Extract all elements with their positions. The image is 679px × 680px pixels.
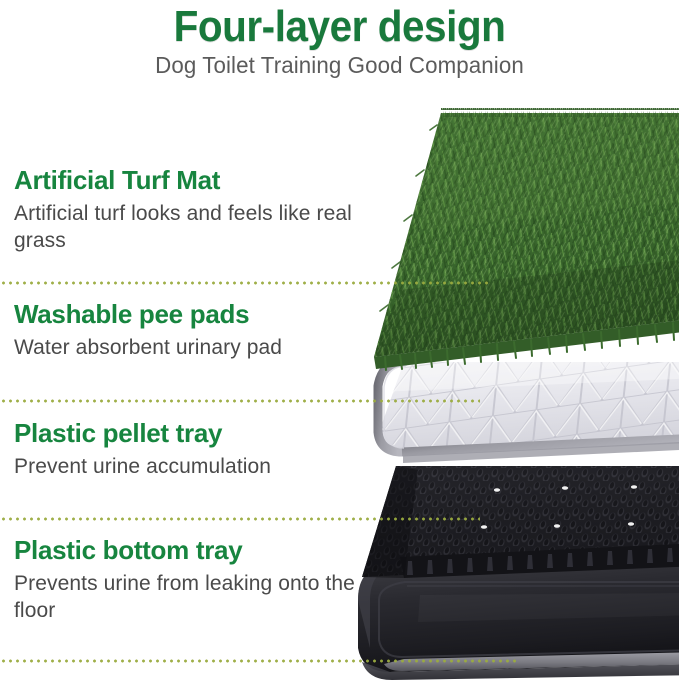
infographic-canvas: Four-layer design Dog Toilet Training Go… [0, 0, 679, 680]
layer-text-washable-pee-pad: Washable pee pads Water absorbent urinar… [14, 300, 359, 362]
layer-description-plastic-pellet-tray: Prevent urine accumulation [14, 454, 359, 481]
layer-heading-plastic-bottom-tray: Plastic bottom tray [14, 536, 359, 565]
connector-line-bottom [0, 659, 520, 663]
layer-text-artificial-turf-mat: Artificial Turf Mat Artificial turf look… [14, 166, 359, 255]
layer-text-plastic-bottom-tray: Plastic bottom tray Prevents urine from … [14, 536, 359, 625]
layer-heading-artificial-turf-mat: Artificial Turf Mat [14, 166, 359, 195]
connector-line-pellet [0, 517, 480, 521]
page-subtitle: Dog Toilet Training Good Companion [10, 52, 669, 79]
layer-description-artificial-turf-mat: Artificial turf looks and feels like rea… [14, 201, 359, 255]
header: Four-layer design Dog Toilet Training Go… [0, 0, 679, 96]
layer-heading-washable-pee-pad: Washable pee pads [14, 300, 359, 329]
layer-text-plastic-pellet-tray: Plastic pellet tray Prevent urine accumu… [14, 419, 359, 481]
layer-heading-plastic-pellet-tray: Plastic pellet tray [14, 419, 359, 448]
connector-line-turf [0, 281, 488, 285]
connector-line-pad [0, 399, 480, 403]
turf-top-fringe [441, 108, 679, 118]
layer-description-washable-pee-pad: Water absorbent urinary pad [14, 335, 359, 362]
layer-description-plastic-bottom-tray: Prevents urine from leaking onto the flo… [14, 571, 359, 625]
layer-plastic-pellet-tray [355, 460, 679, 585]
layer-artificial-turf-mat [365, 105, 679, 370]
page-title: Four-layer design [27, 0, 652, 50]
